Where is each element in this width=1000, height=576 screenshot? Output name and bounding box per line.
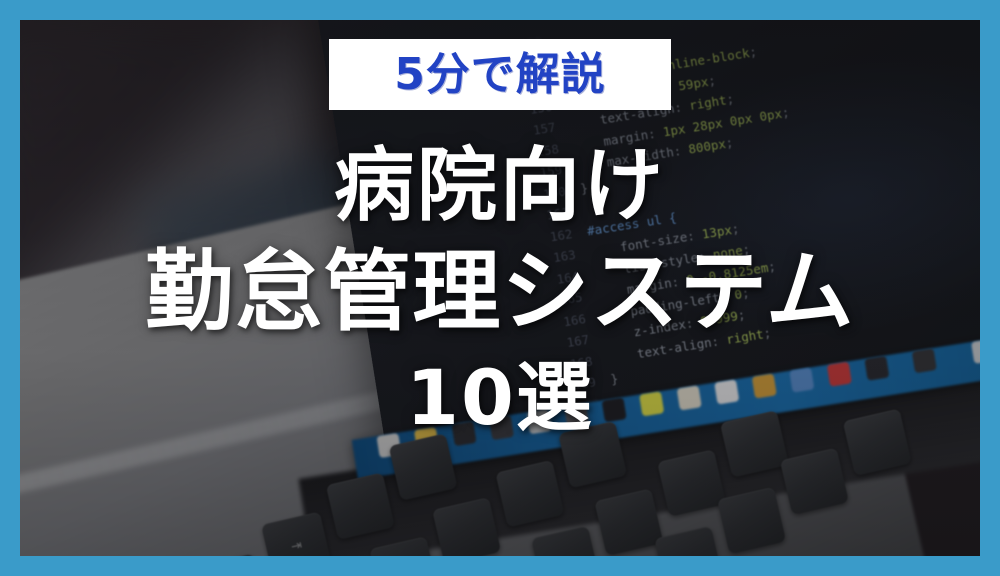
title-line-3: 10選 (145, 355, 854, 440)
title-line-2: 勤怠管理システム (145, 243, 854, 342)
badge-label: 5分で解説 (394, 53, 606, 97)
youtube-thumbnail: 153 154 155 display: inline-block;156 fo… (0, 0, 1000, 576)
thumbnail-content: 5分で解説 病院向け 勤怠管理システム 10選 (20, 20, 980, 556)
badge-5min: 5分で解説 (329, 39, 671, 110)
title-line-1: 病院向け (145, 141, 854, 231)
title-block: 病院向け 勤怠管理システム 10選 (145, 141, 854, 440)
